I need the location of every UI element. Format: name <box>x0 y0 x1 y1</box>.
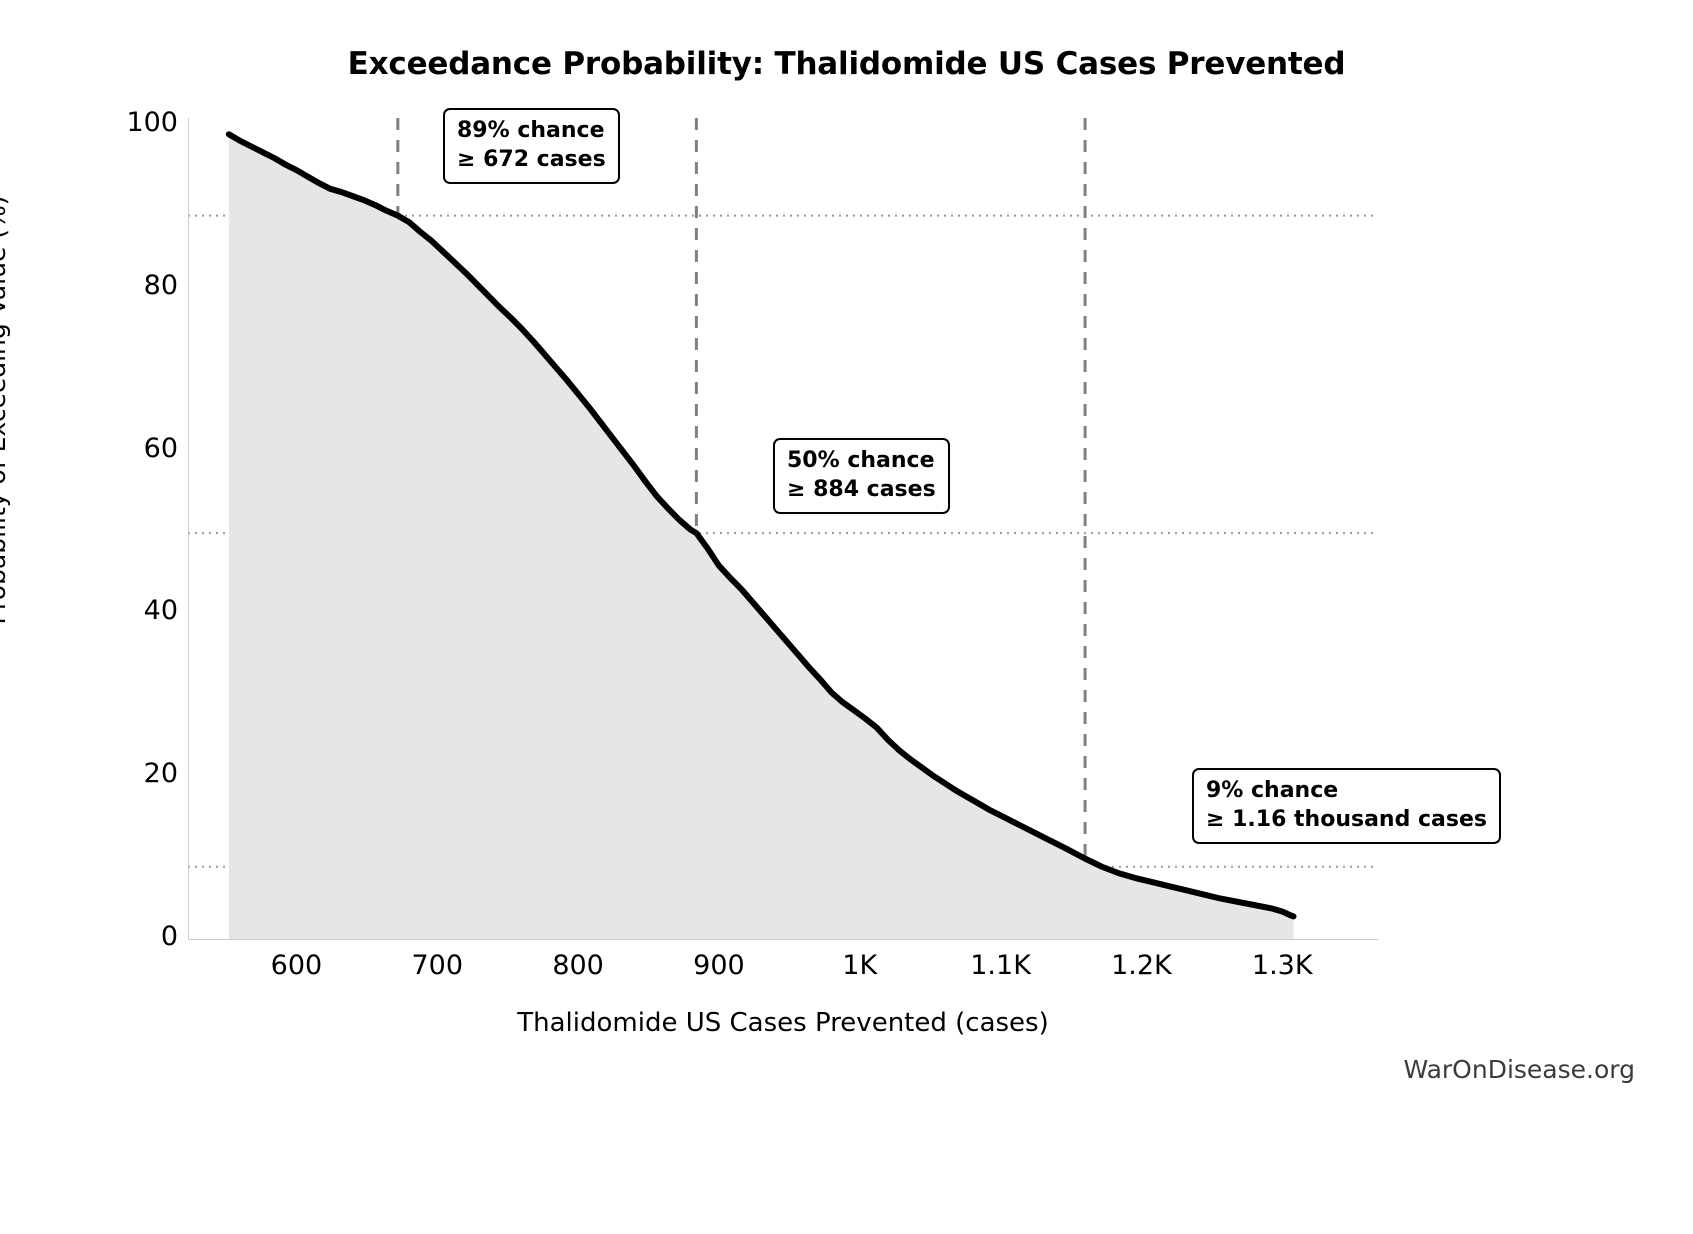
x-tick-label-1100: 1.1K <box>931 950 1071 981</box>
curve-area-fill <box>229 134 1294 940</box>
annotation-89-percent: 89% chance ≥ 672 cases <box>443 108 620 184</box>
x-axis-label: Thalidomide US Cases Prevented (cases) <box>188 1008 1378 1038</box>
annotation-50-line2: ≥ 884 cases <box>787 476 936 505</box>
annotation-9-line2: ≥ 1.16 thousand cases <box>1206 806 1487 835</box>
x-tick-label-600: 600 <box>226 950 366 981</box>
x-tick-label-1200: 1.2K <box>1071 950 1211 981</box>
chart-figure: Exceedance Probability: Thalidomide US C… <box>0 0 1693 1234</box>
y-axis-label: Probability of Exceeding Value (%) <box>0 150 11 670</box>
annotation-89-line2: ≥ 672 cases <box>457 146 606 175</box>
attribution-footer: WarOnDisease.org <box>1403 1055 1635 1084</box>
x-tick-label-1000: 1K <box>790 950 930 981</box>
y-tick-label-80: 80 <box>78 272 178 299</box>
x-tick-label-900: 900 <box>649 950 789 981</box>
annotation-9-line1: 9% chance <box>1206 777 1487 806</box>
page-title: Exceedance Probability: Thalidomide US C… <box>0 46 1693 82</box>
annotation-89-line1: 89% chance <box>457 117 606 146</box>
y-tick-label-100: 100 <box>78 109 178 136</box>
annotation-50-line1: 50% chance <box>787 447 936 476</box>
y-tick-label-40: 40 <box>78 597 178 624</box>
y-tick-label-0: 0 <box>78 923 178 950</box>
x-tick-label-700: 700 <box>367 950 507 981</box>
y-tick-label-60: 60 <box>78 435 178 462</box>
x-tick-label-800: 800 <box>508 950 648 981</box>
y-tick-label-20: 20 <box>78 760 178 787</box>
x-tick-label-1300: 1.3K <box>1212 950 1352 981</box>
annotation-50-percent: 50% chance ≥ 884 cases <box>773 438 950 514</box>
annotation-9-percent: 9% chance ≥ 1.16 thousand cases <box>1192 768 1501 844</box>
